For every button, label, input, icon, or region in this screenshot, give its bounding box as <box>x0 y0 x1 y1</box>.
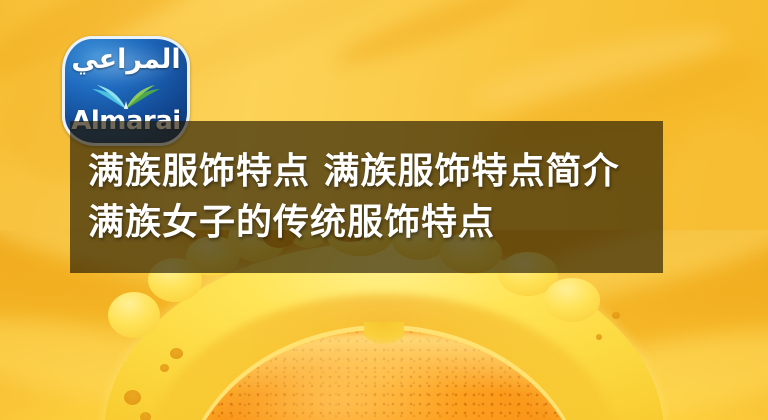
juice-bubble <box>596 334 602 340</box>
juice-bubble <box>124 390 141 405</box>
headline-text: 满族服饰特点 满族服饰特点简介 满族女子的传统服饰特点 <box>88 146 663 248</box>
logo-arabic-wordmark: المراعي <box>62 46 190 73</box>
juice-droplet <box>544 278 600 322</box>
juice-bubble <box>160 364 169 372</box>
juice-bubble <box>170 348 183 359</box>
juice-bubble <box>140 412 151 420</box>
screenshot-canvas: المراعي Almarai 满族服饰特点 满族服饰特点简介 满族女子的传统服… <box>0 0 768 420</box>
juice-bubble <box>612 312 620 319</box>
juice-droplet <box>108 292 160 338</box>
headline-overlay-banner: 满族服饰特点 满族服饰特点简介 满族女子的传统服饰特点 <box>70 121 663 273</box>
orange-top-notch <box>364 322 404 344</box>
